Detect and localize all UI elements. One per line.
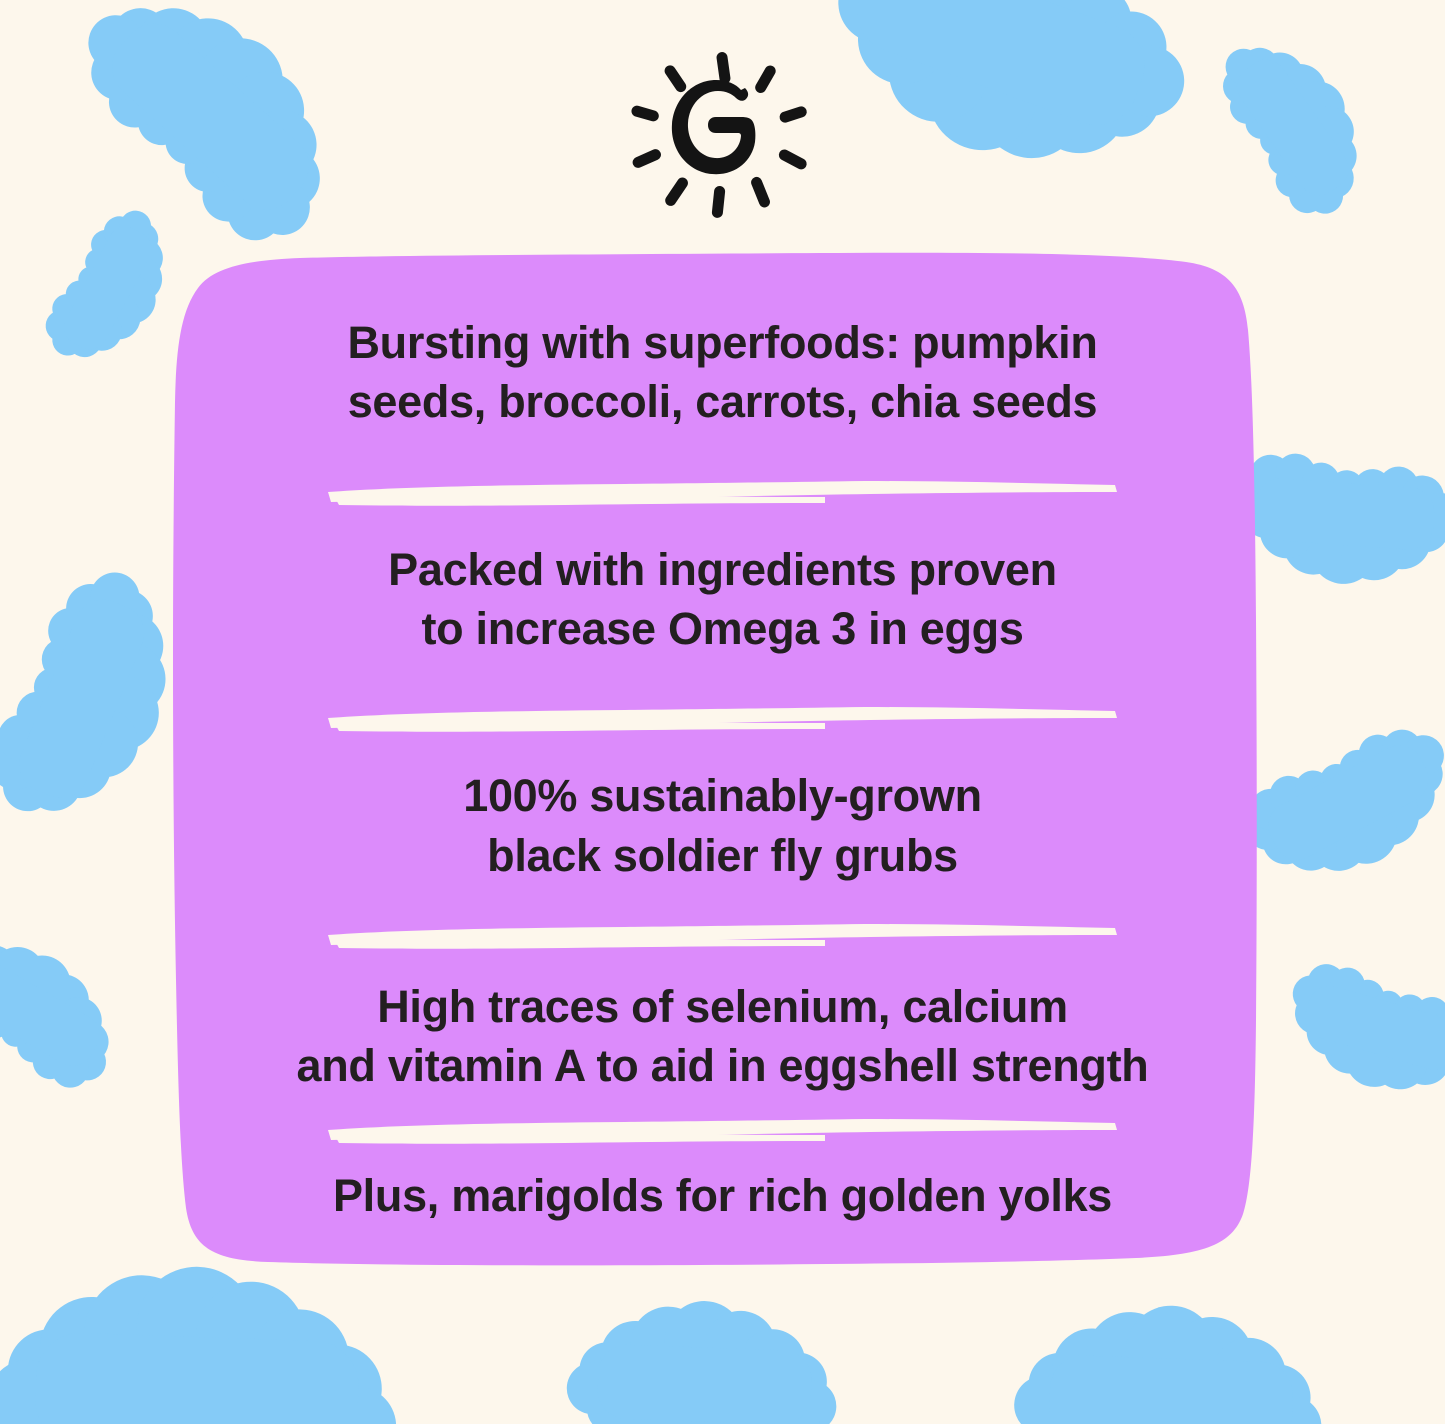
cloud-bottom-left: [0, 1260, 401, 1424]
benefit-eggshell-line2: and vitamin A to aid in eggshell strengt…: [297, 1040, 1149, 1091]
cloud-right-lower: [1273, 954, 1445, 1113]
divider-1: [325, 476, 1121, 510]
divider-4: [325, 1114, 1121, 1148]
cloud-left-mid: [0, 553, 205, 846]
benefit-omega-3: Packed with ingredients proven to increa…: [200, 540, 1245, 659]
benefit-superfoods-line2: seeds, broccoli, carrots, chia seeds: [348, 376, 1098, 427]
benefit-grubs-line2: black soldier fly grubs: [487, 830, 958, 881]
brand-logo: [0, 46, 1445, 226]
benefit-omega-3-line2: to increase Omega 3 in eggs: [421, 603, 1023, 654]
cloud-right-mid-upper: [1229, 450, 1445, 592]
cloud-left-lower: [0, 910, 140, 1102]
cloud-right-mid-lower: [1231, 704, 1445, 910]
sun-g-logo-icon: [628, 52, 818, 220]
divider-3: [325, 919, 1121, 953]
benefit-superfoods-line1: Bursting with superfoods: pumpkin: [347, 317, 1097, 368]
benefit-eggshell-line1: High traces of selenium, calcium: [377, 981, 1068, 1032]
benefit-grubs-line1: 100% sustainably-grown: [463, 770, 982, 821]
benefits-list: Bursting with superfoods: pumpkin seeds,…: [186, 268, 1259, 1262]
poster-canvas: Bursting with superfoods: pumpkin seeds,…: [0, 0, 1445, 1424]
divider-2: [325, 702, 1121, 736]
benefit-marigolds-line1: Plus, marigolds for rich golden yolks: [333, 1170, 1112, 1221]
cloud-bottom-right: [1012, 1300, 1326, 1424]
benefit-superfoods: Bursting with superfoods: pumpkin seeds,…: [200, 313, 1245, 432]
benefit-marigolds: Plus, marigolds for rich golden yolks: [200, 1166, 1245, 1225]
cloud-bottom-center: [565, 1296, 840, 1424]
benefit-grubs: 100% sustainably-grown black soldier fly…: [200, 766, 1245, 885]
benefit-eggshell: High traces of selenium, calcium and vit…: [200, 977, 1245, 1096]
benefit-omega-3-line1: Packed with ingredients proven: [388, 544, 1057, 595]
